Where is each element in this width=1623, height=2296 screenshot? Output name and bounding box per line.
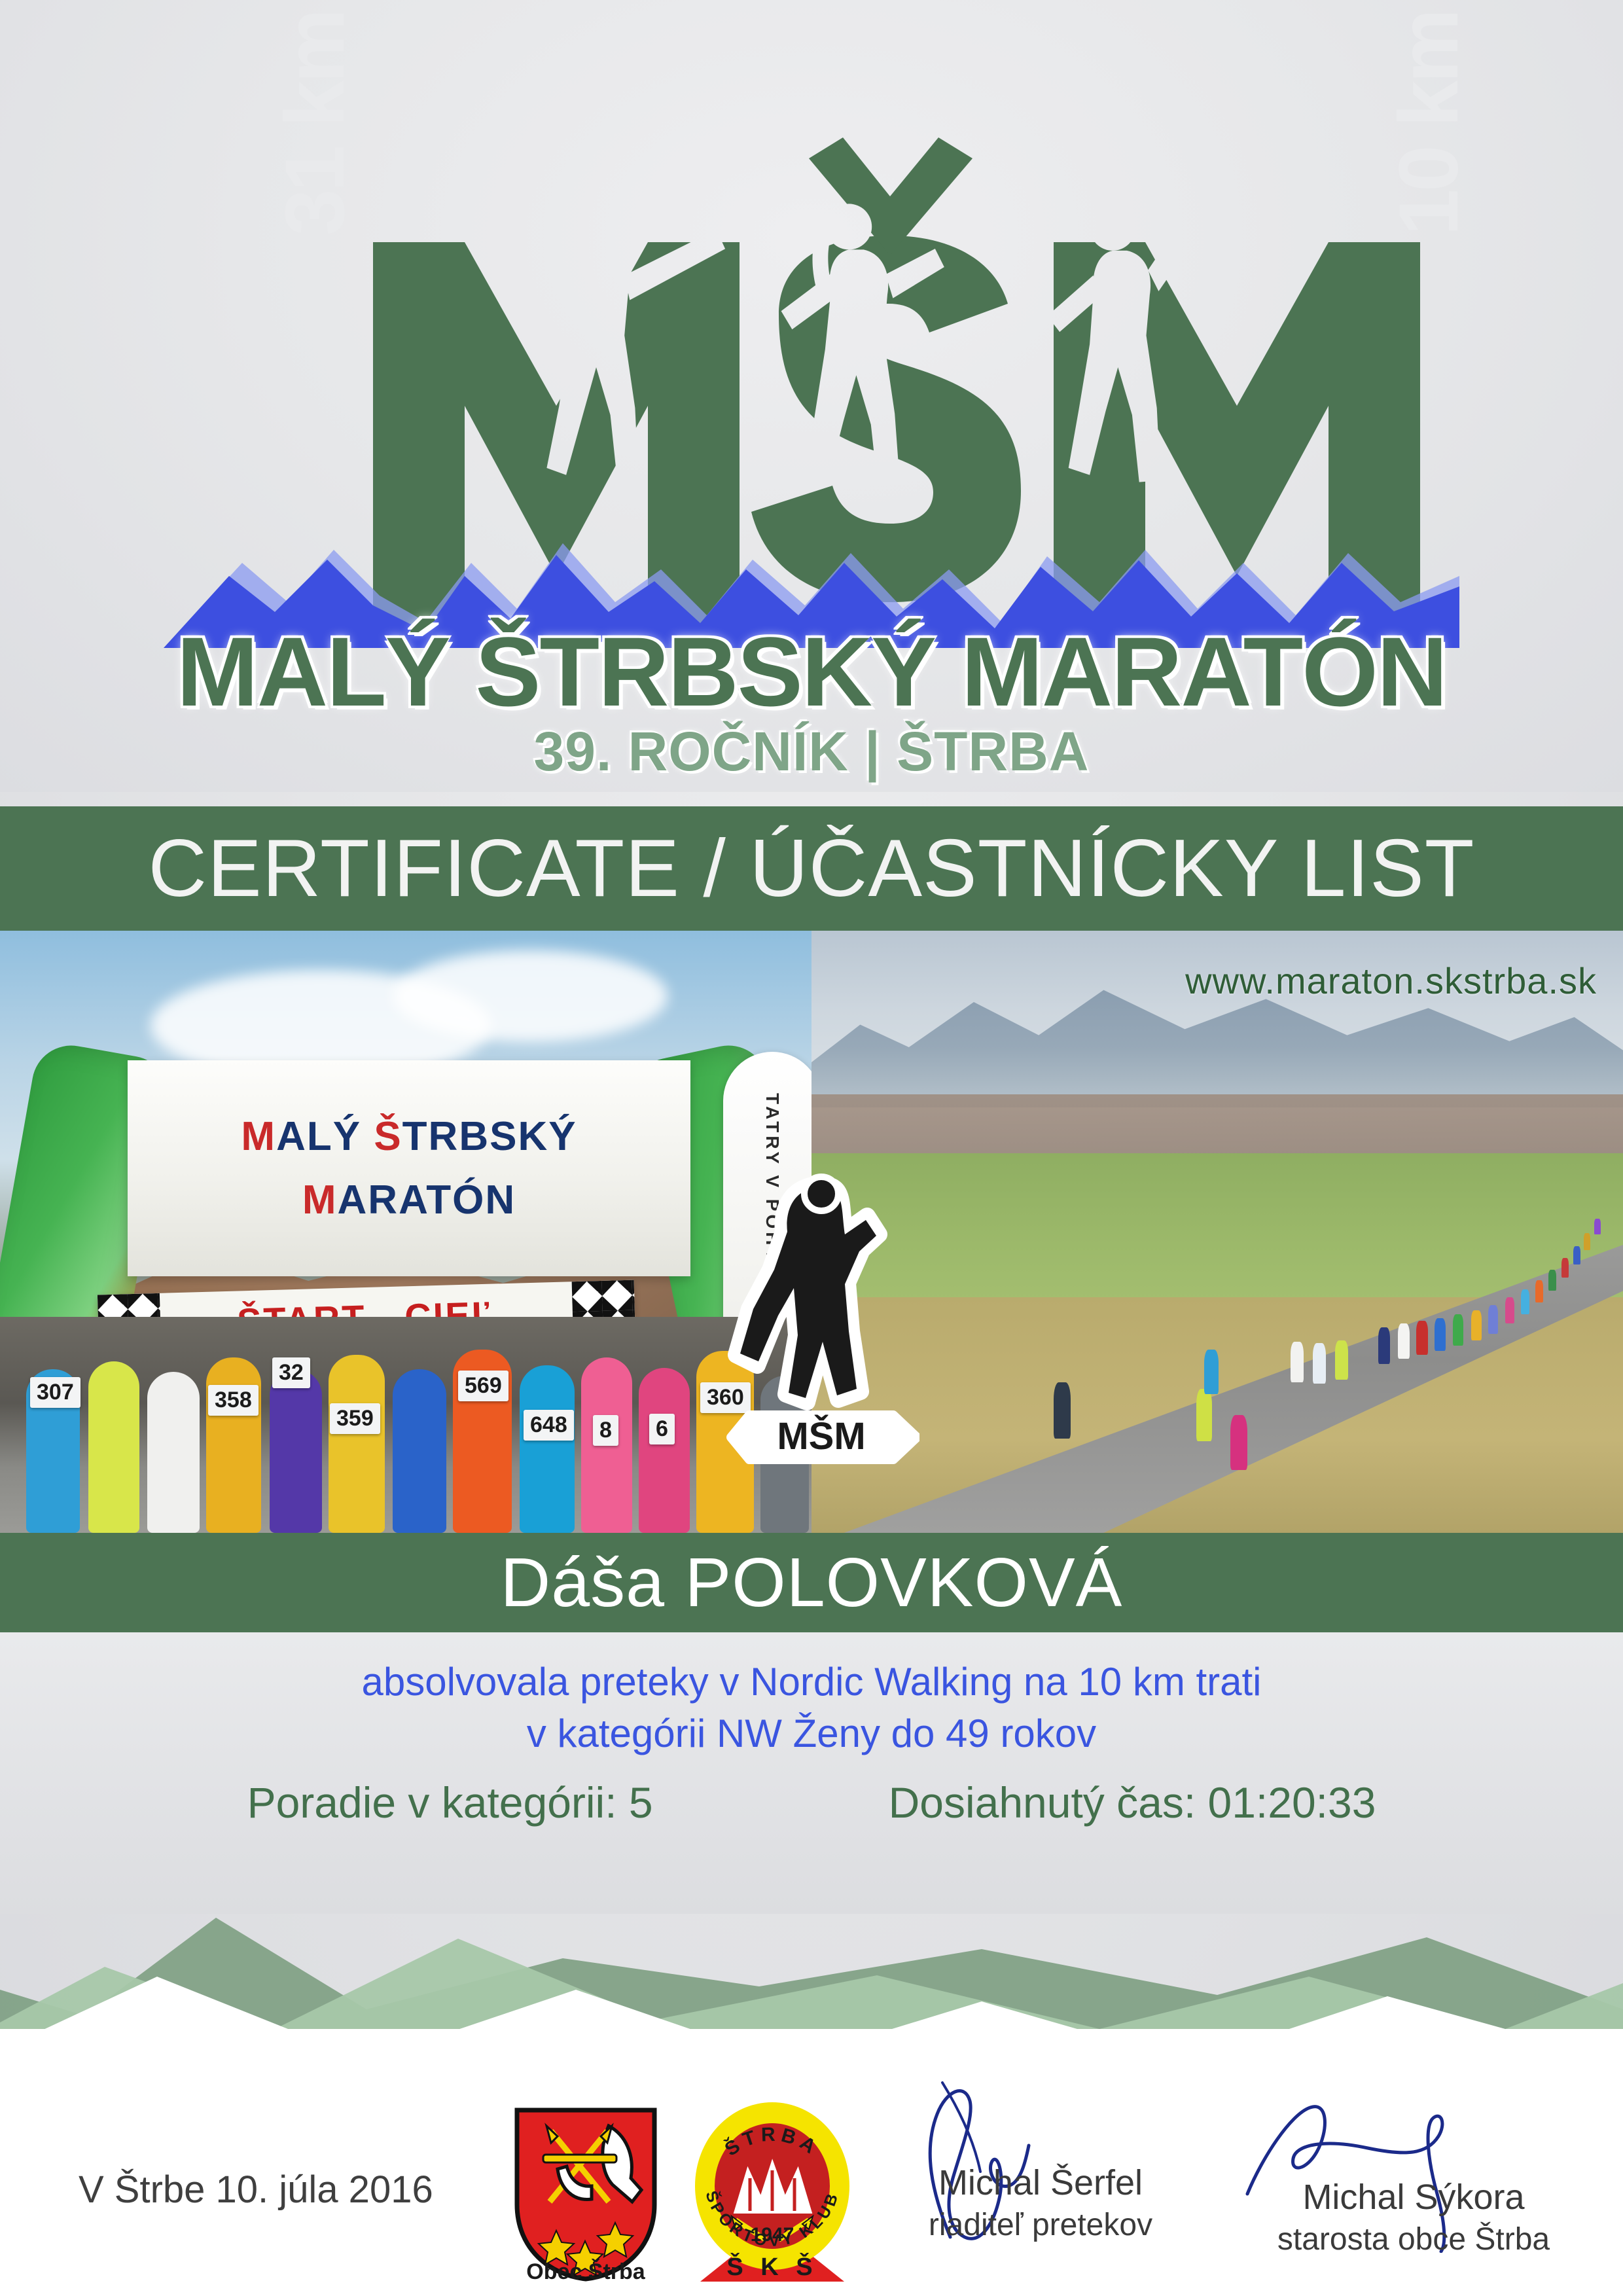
runner xyxy=(1505,1297,1514,1323)
certificate-page: 31 km 10 km MALÝ ŠTRBSKÝ MARATÓN 39. ROČ… xyxy=(0,0,1623,2296)
runner xyxy=(393,1369,446,1533)
runner xyxy=(1471,1310,1482,1340)
club-founded-year: 1947 xyxy=(751,2224,794,2246)
signature-role: riaditeľ pretekov xyxy=(870,2207,1211,2243)
signature-name: Michal Šerfel xyxy=(870,2162,1211,2203)
signature-mayor: Michal Sýkora starosta obce Štrba xyxy=(1243,2177,1584,2257)
runner xyxy=(270,1369,322,1533)
event-subtitle: 39. ROČNÍK | ŠTRBA xyxy=(124,720,1499,783)
msm-badge-text: MŠM xyxy=(777,1415,865,1458)
obec-strba-coat-of-arms-icon xyxy=(510,2106,661,2283)
runner xyxy=(1535,1280,1543,1302)
runner xyxy=(88,1361,139,1533)
bib-number: 307 xyxy=(30,1377,80,1408)
photo-start-line: MALÝ ŠTRBSKÝ MARATÓN ŠTART - CIEĽ TATRY … xyxy=(0,931,811,1533)
arch-line1-s: Š xyxy=(374,1114,402,1159)
runner xyxy=(1230,1415,1247,1470)
runner xyxy=(1335,1340,1348,1380)
results-area: absolvovala preteky v Nordic Walking na … xyxy=(0,1632,1623,1914)
arch-banner-line1: MALÝ ŠTRBSKÝ xyxy=(241,1113,577,1160)
sports-club-strba-emblem-icon: ŠTRBA ŠPORTOVÝ KLUB 1947 Š K Š xyxy=(687,2100,857,2289)
obec-strba-caption: Obec Štrba xyxy=(510,2259,661,2285)
runner xyxy=(1378,1327,1390,1364)
arch-banner: MALÝ ŠTRBSKÝ MARATÓN xyxy=(128,1060,690,1276)
runner xyxy=(1584,1233,1590,1250)
spectator xyxy=(1054,1382,1071,1439)
runner xyxy=(1196,1389,1212,1441)
badge-31km: 31 km xyxy=(274,11,357,236)
runner xyxy=(639,1368,690,1533)
bib-number: 569 xyxy=(458,1371,508,1401)
finish-time: Dosiahnutý čas: 01:20:33 xyxy=(889,1778,1376,1827)
runner xyxy=(147,1372,200,1533)
runner xyxy=(1435,1318,1446,1351)
arch-banner-line2: MARATÓN xyxy=(302,1177,516,1223)
runner xyxy=(1398,1323,1410,1359)
bib-number: 8 xyxy=(593,1415,618,1446)
bib-number: 6 xyxy=(649,1414,675,1444)
signature-director: Michal Šerfel riaditeľ pretekov xyxy=(870,2162,1211,2243)
achievement-text: absolvovala preteky v Nordic Walking na … xyxy=(0,1656,1623,1759)
signature-role: starosta obce Štrba xyxy=(1243,2221,1584,2257)
runner xyxy=(1594,1219,1601,1234)
cloud xyxy=(393,950,668,1042)
certificate-title-bar: CERTIFICATE / ÚČASTNÍCKY LIST xyxy=(0,806,1623,931)
arch-line1-m: M xyxy=(241,1114,276,1159)
runner xyxy=(206,1357,261,1533)
runner xyxy=(1416,1321,1428,1355)
bib-number: 648 xyxy=(524,1410,574,1441)
runner xyxy=(1488,1305,1498,1334)
bib-number: 359 xyxy=(330,1403,380,1434)
runner xyxy=(520,1365,575,1533)
msm-logo: 31 km 10 km MALÝ ŠTRBSKÝ MARATÓN 39. ROČ… xyxy=(124,39,1499,785)
arch-line2-m: M xyxy=(302,1177,338,1223)
bib-number: 32 xyxy=(272,1357,310,1388)
runner xyxy=(1573,1246,1580,1265)
runner xyxy=(1548,1270,1556,1291)
participant-name: Dáša POLOVKOVÁ xyxy=(501,1543,1123,1623)
event-title: MALÝ ŠTRBSKÝ MARATÓN xyxy=(124,615,1499,728)
category-rank: Poradie v kategórii: 5 xyxy=(247,1778,653,1827)
arch-line1-rest2: TRBSKÝ xyxy=(402,1114,577,1159)
runner xyxy=(1313,1343,1326,1384)
club-bottom-text: Š K Š xyxy=(726,2251,817,2281)
achievement-line1: absolvovala preteky v Nordic Walking na … xyxy=(361,1660,1261,1704)
website-url[interactable]: www.maraton.skstrba.sk xyxy=(1185,960,1597,1002)
photo-course-road: www.maraton.skstrba.sk xyxy=(811,931,1623,1533)
msm-runner-badge-icon: MŠM xyxy=(723,1172,919,1466)
runner xyxy=(1453,1314,1463,1346)
runner xyxy=(1204,1350,1219,1394)
certificate-title: CERTIFICATE / ÚČASTNÍCKY LIST xyxy=(148,822,1474,915)
footer: V Štrbe 10. júla 2016 Obec Štrba xyxy=(0,2029,1623,2296)
header-logo-area: 31 km 10 km MALÝ ŠTRBSKÝ MARATÓN 39. ROČ… xyxy=(0,0,1623,792)
runner xyxy=(1291,1342,1304,1382)
runner-crowd: 307 358 32 359 569 648 8 6 360 xyxy=(0,1317,811,1533)
signature-name: Michal Sýkora xyxy=(1243,2177,1584,2217)
bib-number: 358 xyxy=(208,1385,259,1416)
runner xyxy=(1561,1258,1569,1278)
badge-10km: 10 km xyxy=(1387,11,1471,236)
achievement-line2: v kategórii NW Ženy do 49 rokov xyxy=(0,1708,1623,1759)
results-row: Poradie v kategórii: 5 Dosiahnutý čas: 0… xyxy=(0,1778,1623,1827)
arch-line2-rest: ARATÓN xyxy=(338,1177,516,1223)
participant-name-band: Dáša POLOVKOVÁ xyxy=(0,1533,1623,1632)
arch-line1-rest: ALÝ xyxy=(276,1114,374,1159)
runner xyxy=(1521,1289,1529,1314)
issue-date: V Štrbe 10. júla 2016 xyxy=(79,2168,433,2212)
runner xyxy=(329,1355,385,1533)
